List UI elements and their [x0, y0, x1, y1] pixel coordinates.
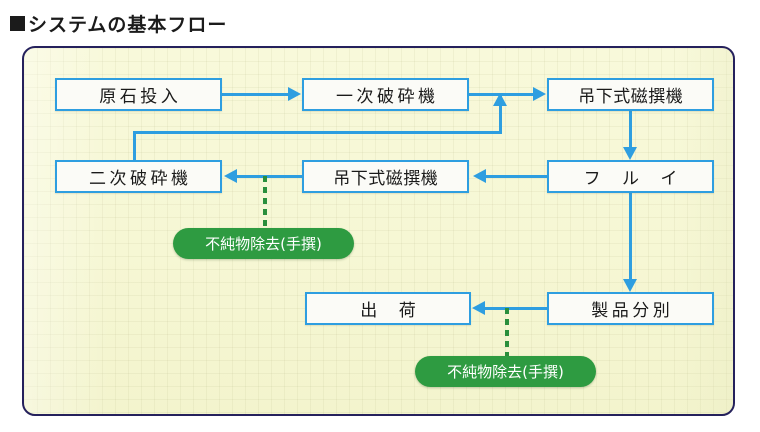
node-magnet-1[interactable]: 吊下式磁撰機	[547, 78, 714, 111]
edge-feedback-riser-left	[133, 131, 136, 161]
edge-raw-input-to-primary-crusher-arrowhead	[288, 87, 301, 101]
node-primary-crusher-label: 一次破砕機	[333, 82, 439, 107]
edge-feedback-arrowhead	[493, 93, 507, 106]
edge-feedback-horizontal	[133, 131, 502, 134]
edge-sorting-to-shipping-arrowhead	[472, 301, 485, 315]
node-sorting-label: 製品分別	[588, 296, 674, 321]
node-magnet-1-label: 吊下式磁撰機	[578, 82, 684, 107]
node-screen-label: フ ル イ	[576, 164, 686, 189]
annotation-2-impurity-removal[interactable]: 不純物除去(手撰)	[415, 356, 596, 387]
edge-magnet-1-to-screen	[629, 111, 632, 149]
edge-magnet-2-to-secondary-crusher	[237, 175, 302, 178]
edge-screen-to-magnet-2	[486, 175, 547, 178]
node-shipping[interactable]: 出 荷	[305, 292, 471, 325]
page-title-label: システムの基本フロー	[28, 10, 227, 37]
node-shipping-label: 出 荷	[352, 296, 423, 321]
square-bullet-icon	[10, 16, 25, 31]
annotation-1-impurity-removal[interactable]: 不純物除去(手撰)	[173, 228, 354, 259]
edge-screen-to-sorting	[629, 193, 632, 281]
edge-primary-crusher-to-magnet-1-arrowhead	[533, 87, 546, 101]
edge-raw-input-to-primary-crusher	[222, 93, 290, 96]
annotation-2-label: 不純物除去(手撰)	[447, 361, 564, 382]
node-magnet-2[interactable]: 吊下式磁撰機	[302, 160, 469, 193]
node-primary-crusher[interactable]: 一次破砕機	[302, 78, 469, 111]
node-secondary-crusher[interactable]: 二次破砕機	[55, 160, 222, 193]
diagram-panel: 原石投入 一次破砕機 吊下式磁撰機 二次破砕機 吊下式磁撰機 フ ル イ 出 荷…	[22, 46, 735, 416]
node-sorting[interactable]: 製品分別	[547, 292, 714, 325]
node-magnet-2-label: 吊下式磁撰機	[333, 164, 439, 189]
annotation-1-label: 不純物除去(手撰)	[205, 233, 322, 254]
edge-sorting-to-shipping	[485, 307, 547, 310]
edge-magnet-2-to-secondary-crusher-arrowhead	[224, 169, 237, 183]
annotation-1-dashed-link	[263, 176, 267, 232]
node-raw-input-label: 原石投入	[96, 82, 182, 107]
page-title: システムの基本フロー	[10, 8, 227, 38]
node-screen[interactable]: フ ル イ	[547, 160, 714, 193]
node-raw-input[interactable]: 原石投入	[55, 78, 222, 111]
annotation-2-dashed-link	[505, 308, 509, 360]
edge-magnet-1-to-screen-arrowhead	[623, 147, 637, 160]
edge-screen-to-magnet-2-arrowhead	[473, 169, 486, 183]
edge-screen-to-sorting-arrowhead	[623, 279, 637, 292]
node-secondary-crusher-label: 二次破砕機	[86, 164, 192, 189]
